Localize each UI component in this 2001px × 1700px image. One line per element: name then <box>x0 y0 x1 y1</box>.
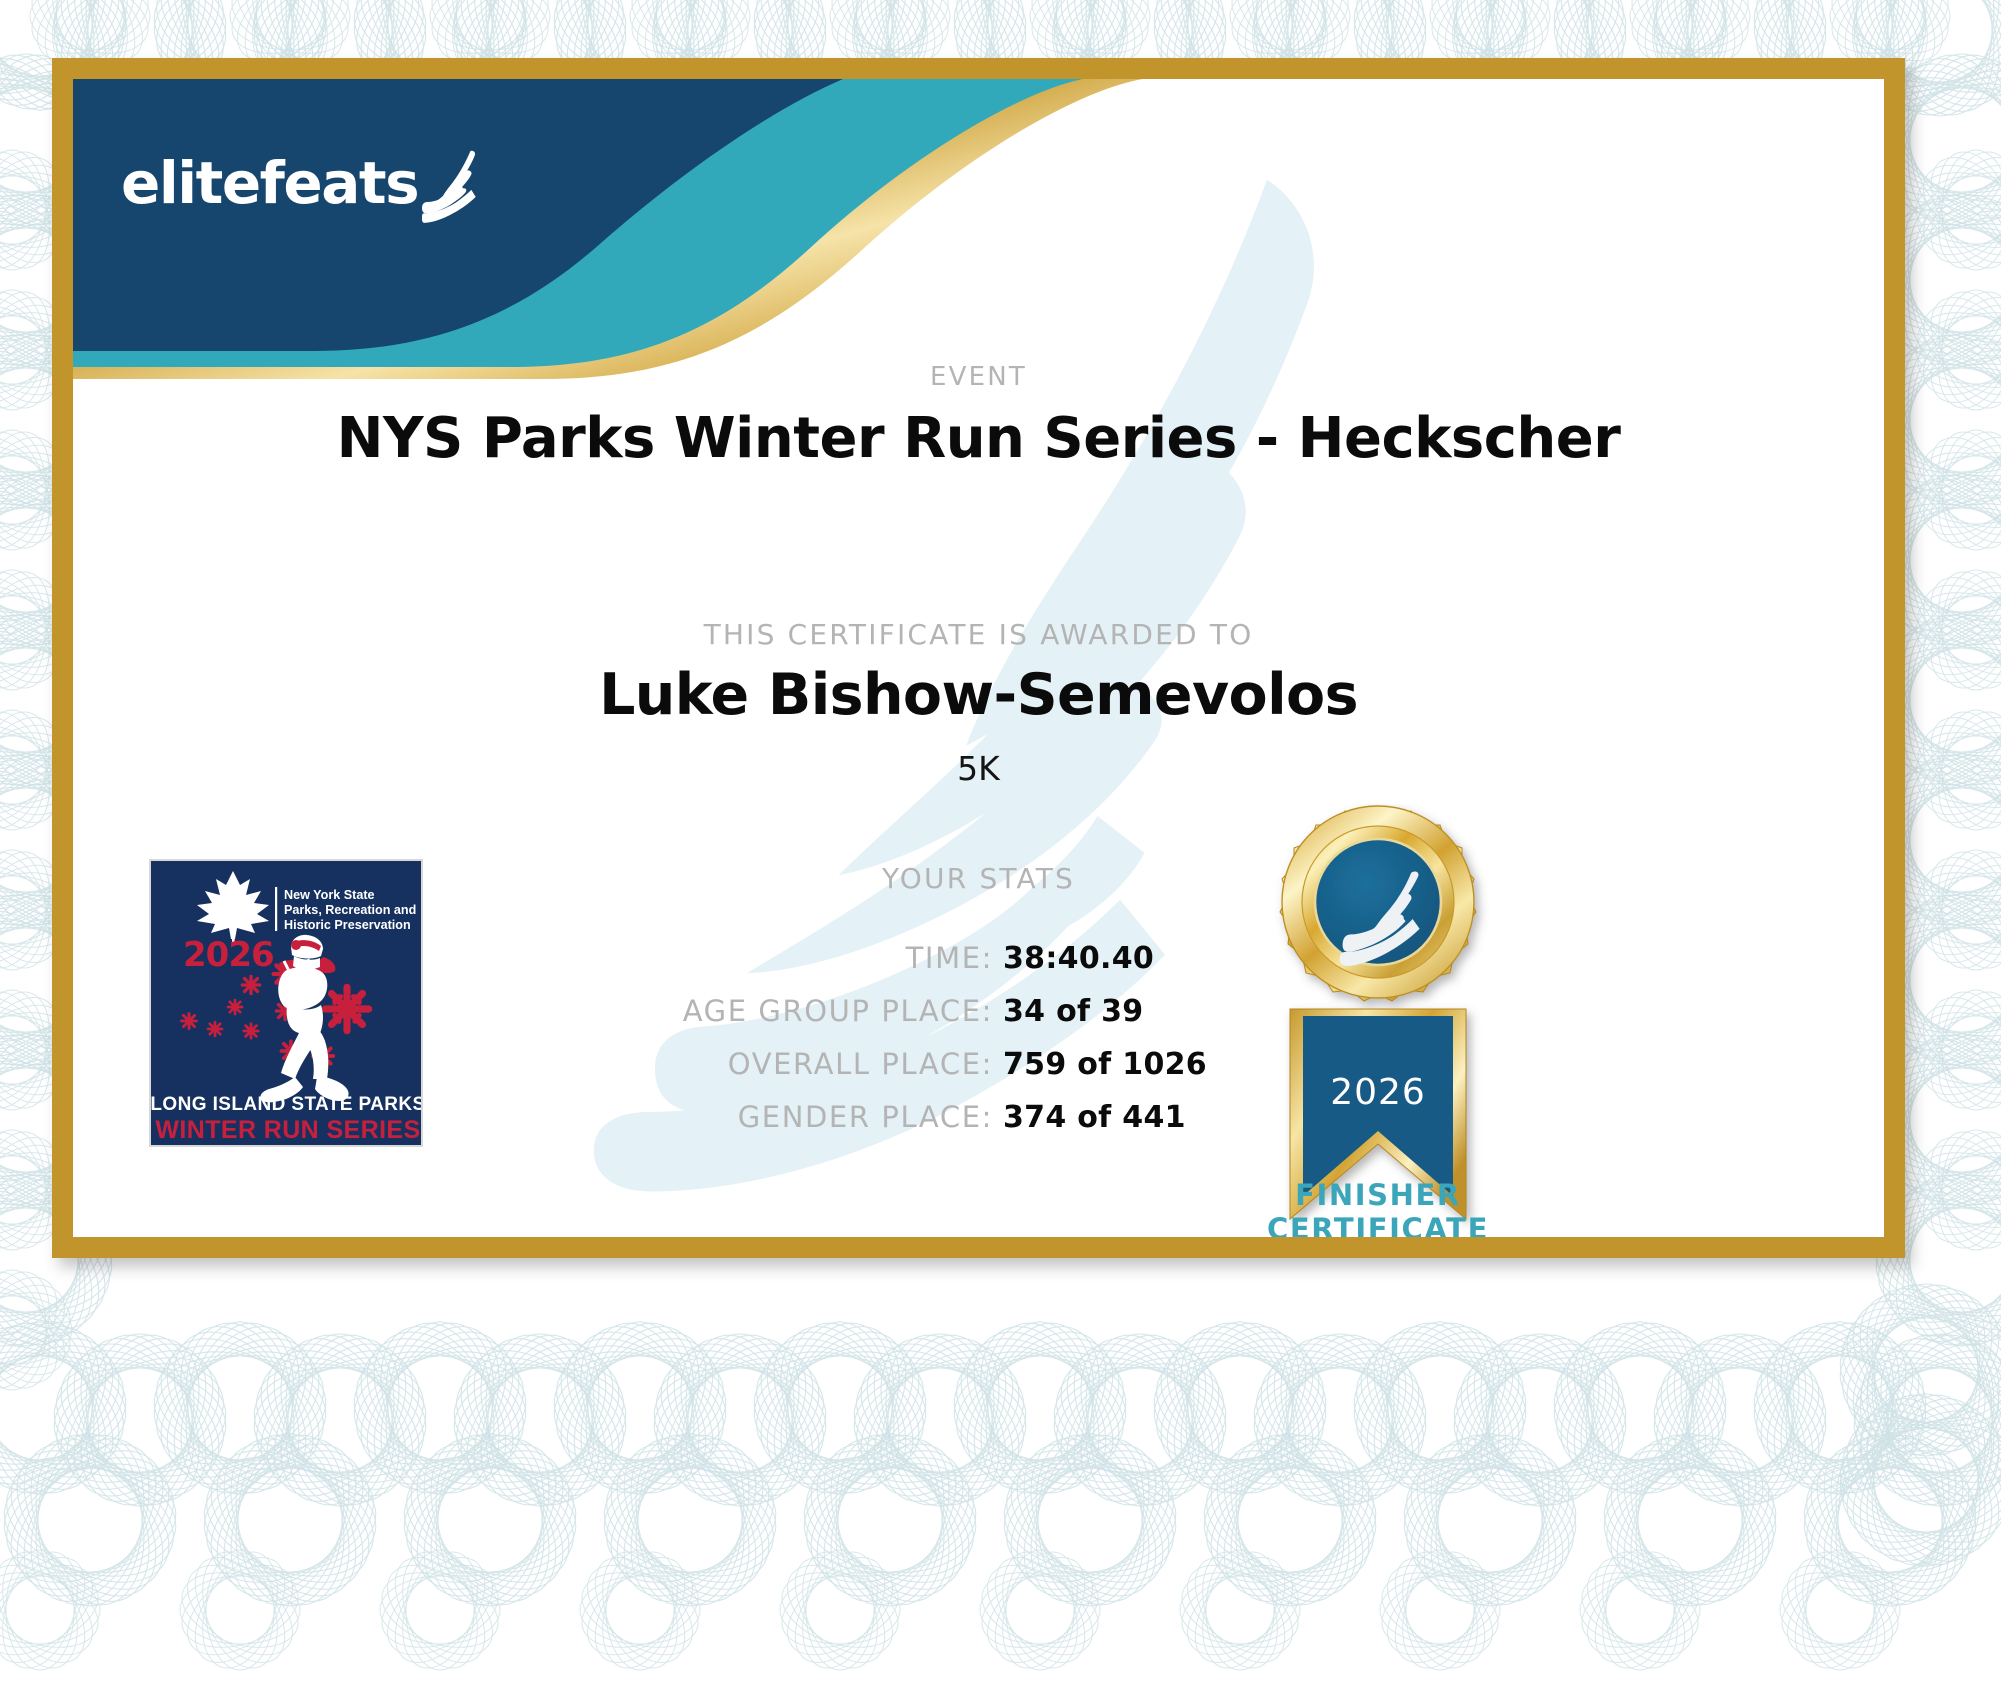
stat-key: AGE GROUP PLACE: <box>683 994 993 1028</box>
svg-text:Historic Preservation: Historic Preservation <box>284 918 411 932</box>
svg-text:Parks, Recreation and: Parks, Recreation and <box>284 903 416 917</box>
recipient-name: Luke Bishow-Semevolos <box>73 662 1884 728</box>
elitefeats-logo: elitefeats <box>121 137 481 229</box>
certificate-page: elitefeats EVENT NYS Parks Winter Run Se… <box>0 0 2001 1700</box>
stat-row-gender-place: GENDER PLACE: 374 of 441 <box>403 1100 1303 1153</box>
race-distance: 5K <box>73 749 1884 788</box>
stat-key: GENDER PLACE: <box>738 1100 993 1134</box>
svg-text:WINTER RUN SERIES: WINTER RUN SERIES <box>155 1116 420 1144</box>
svg-text:2026: 2026 <box>1330 1072 1426 1113</box>
finisher-line-2: CERTIFICATE <box>1198 1213 1558 1237</box>
awarded-to-label: THIS CERTIFICATE IS AWARDED TO <box>73 618 1884 651</box>
stats-list: TIME: 38:40.40 AGE GROUP PLACE: 34 of 39… <box>403 941 1303 1153</box>
stat-row-time: TIME: 38:40.40 <box>403 941 1303 994</box>
finisher-line-1: FINISHER <box>1198 1179 1558 1213</box>
finisher-medal-graphic: 2026 <box>1228 804 1528 1237</box>
winged-foot-icon <box>422 143 481 223</box>
stat-row-overall-place: OVERALL PLACE: 759 of 1026 <box>403 1047 1303 1100</box>
brand-wordmark: elitefeats <box>121 154 418 212</box>
stat-key: OVERALL PLACE: <box>728 1047 993 1081</box>
stat-key: TIME: <box>906 941 993 975</box>
svg-text:LONG ISLAND STATE PARKS: LONG ISLAND STATE PARKS <box>151 1094 423 1115</box>
winter-run-series-badge: New York State Parks, Recreation and His… <box>149 859 423 1147</box>
stat-row-age-group-place: AGE GROUP PLACE: 34 of 39 <box>403 994 1303 1047</box>
event-name: NYS Parks Winter Run Series - Heckscher <box>73 406 1884 471</box>
certificate-card: elitefeats EVENT NYS Parks Winter Run Se… <box>52 58 1905 1258</box>
event-label: EVENT <box>73 362 1884 392</box>
header-swoosh-graphic <box>73 79 1143 379</box>
finisher-certificate-caption: FINISHER CERTIFICATE <box>1198 1179 1558 1237</box>
svg-text:New York State: New York State <box>284 888 375 902</box>
svg-text:2026: 2026 <box>183 935 274 975</box>
